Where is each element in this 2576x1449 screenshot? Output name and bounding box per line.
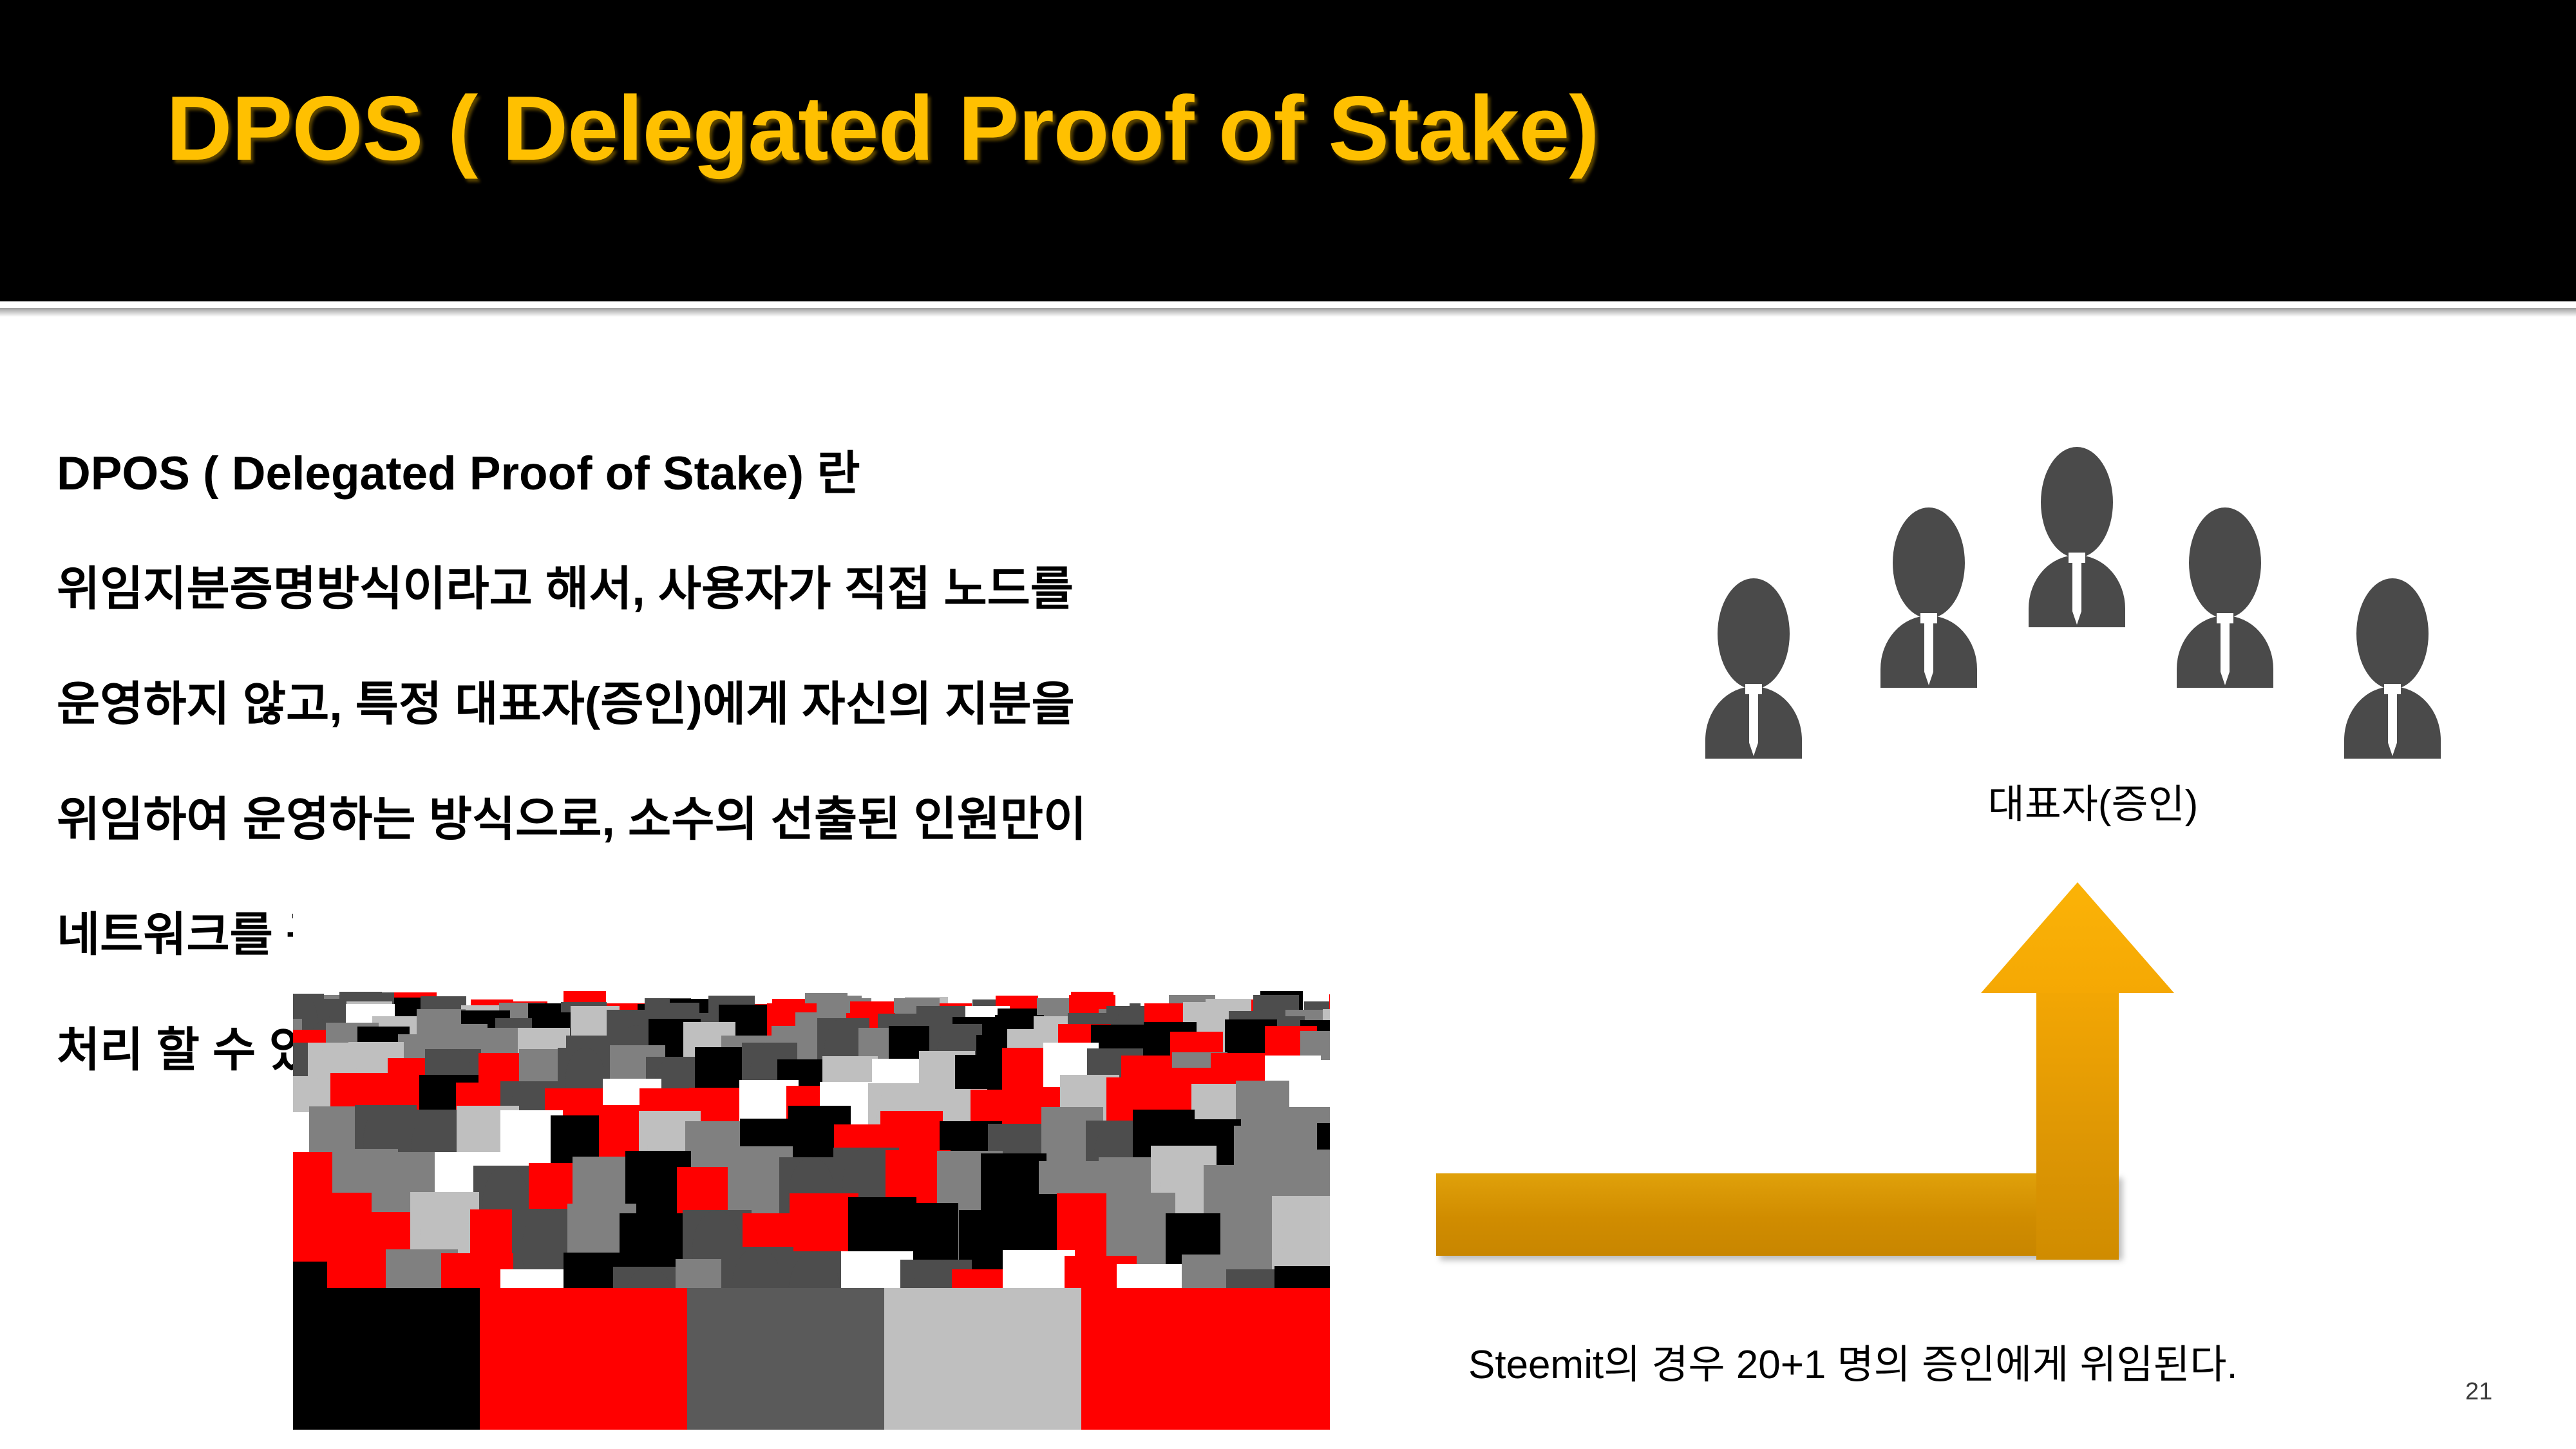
body-line-2: 위임지분증명방식이라고 해서, 사용자가 직접 노드를 — [57, 560, 1538, 618]
delegate-figure-3 — [2029, 447, 2125, 627]
delegate-tie-icon — [1924, 618, 1933, 685]
steemit-caption: Steemit의 경우 20+1 명의 증인에게 위임된다. — [1468, 1332, 2238, 1390]
delegate-figure-1 — [1705, 578, 1802, 759]
delegates-group — [1700, 451, 2460, 760]
delegates-label: 대표자(증인) — [1900, 772, 2286, 829]
delegate-head-icon — [2356, 578, 2429, 689]
body-line-1: DPOS ( Delegated Proof of Stake) 란 — [57, 445, 1538, 502]
delegate-tie-icon — [1749, 689, 1758, 756]
body-line-4: 위임하여 운영하는 방식으로, 소수의 선출된 인원만이 — [57, 791, 1538, 848]
title-bar: DPOS ( Delegated Proof of Stake) — [0, 0, 2576, 301]
delegate-figure-2 — [1880, 507, 1977, 688]
delegate-tie-icon — [2221, 618, 2230, 685]
title-drop-shadow — [0, 308, 2576, 317]
crowd-base-blocks — [293, 1288, 1330, 1430]
delegate-figure-5 — [2344, 578, 2441, 759]
delegate-head-icon — [2041, 447, 2113, 558]
delegate-tie-icon — [2072, 558, 2081, 625]
page-number: 21 — [2465, 1378, 2492, 1406]
delegate-head-icon — [1718, 578, 1790, 689]
crowd-illustration — [293, 902, 1330, 1430]
arrow-vertical-shaft — [2036, 976, 2119, 1260]
crowd-person-head — [1282, 1196, 1330, 1278]
delegate-figure-4 — [2177, 507, 2273, 688]
delegate-head-icon — [2189, 507, 2261, 618]
delegation-arrow — [1436, 882, 2016, 1269]
body-line-3: 운영하지 않고, 특정 대표자(증인)에게 자신의 지분을 — [57, 676, 1538, 733]
title-underline-divider — [0, 301, 2576, 308]
arrow-up-head-icon — [1981, 882, 2174, 993]
page-title: DPOS ( Delegated Proof of Stake) — [166, 76, 1599, 182]
arrow-horizontal-bar — [1436, 1173, 2119, 1256]
delegate-tie-icon — [2388, 689, 2397, 756]
delegate-head-icon — [1893, 507, 1965, 618]
